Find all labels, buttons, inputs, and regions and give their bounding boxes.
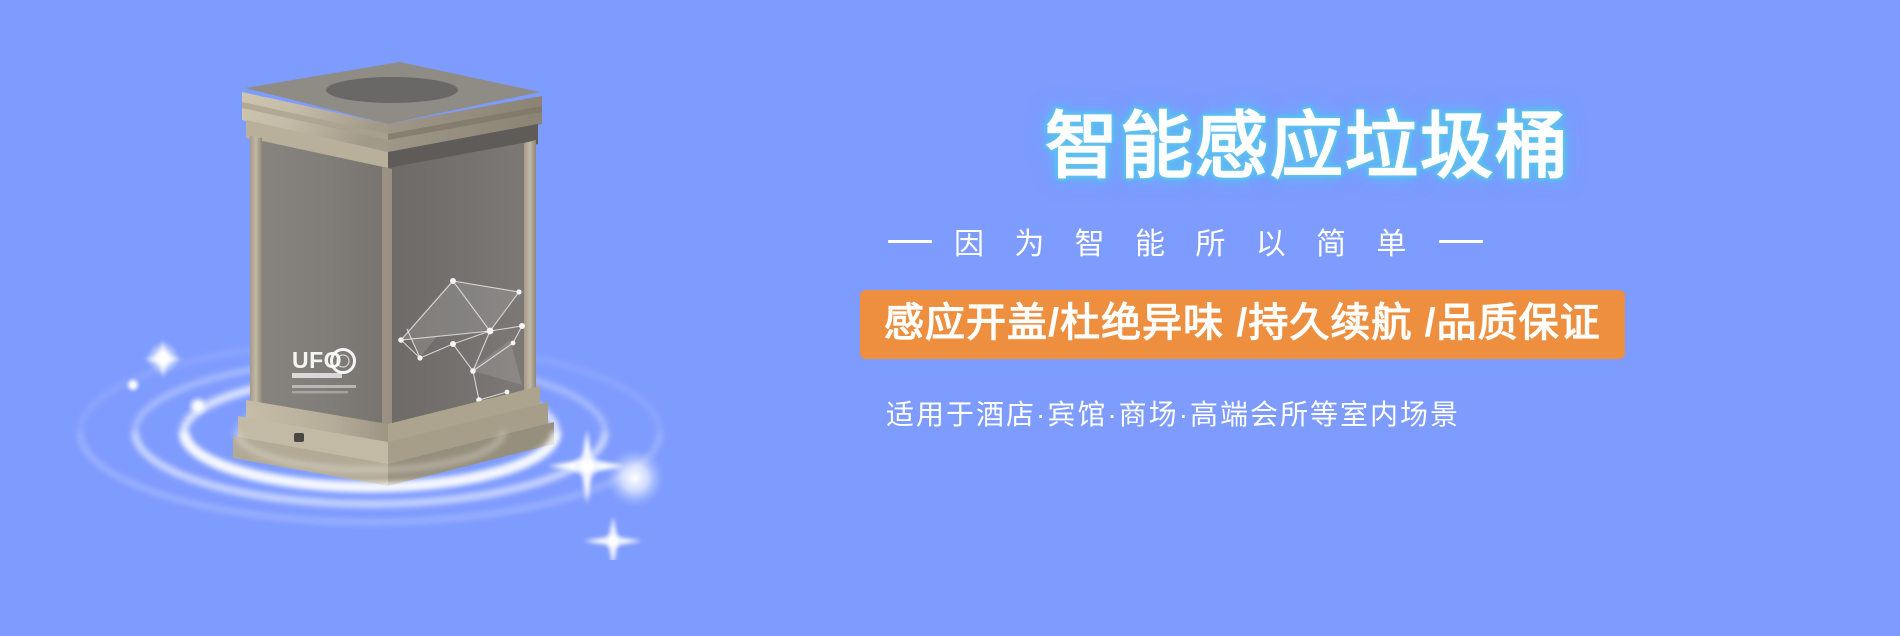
tagline-row: 因 为 智 能 所 以 简 单 [860,219,1760,263]
lid-opening [326,77,458,103]
banner-copy: 智能感应垃圾桶 因 为 智 能 所 以 简 单 感应开盖/杜绝异味 /持久续航 … [860,110,1760,510]
sparkle-cluster-right [548,430,665,560]
tagline-rule-left [888,240,932,243]
trash-can-body: UFO [233,62,554,486]
logo-company-bar [292,385,356,388]
logo-tagline-bar [292,373,342,378]
feature-highlight-text: 感应开盖/杜绝异味 /持久续航 /品质保证 [884,301,1601,345]
product-promo-banner: UFO [0,0,1900,636]
sparkle-cluster-left [125,340,209,417]
logo-company-bar-2 [292,391,348,393]
tagline-rule-right [1439,240,1483,243]
sensor-port [294,433,304,442]
corner-post-right [524,140,536,392]
use-case-text: 适用于酒店·宾馆·商场·高端会所等室内场景 [860,393,1760,433]
product-image: UFO [70,40,750,560]
trash-can-illustration: UFO [70,40,750,560]
tagline-text: 因 为 智 能 所 以 简 单 [954,219,1417,263]
body-face-left [258,140,388,428]
feature-highlight-bar: 感应开盖/杜绝异味 /持久续航 /品质保证 [860,290,1625,359]
page-title: 智能感应垃圾桶 [860,110,1760,183]
corner-post-center [382,167,392,430]
corner-post-left [250,136,262,410]
